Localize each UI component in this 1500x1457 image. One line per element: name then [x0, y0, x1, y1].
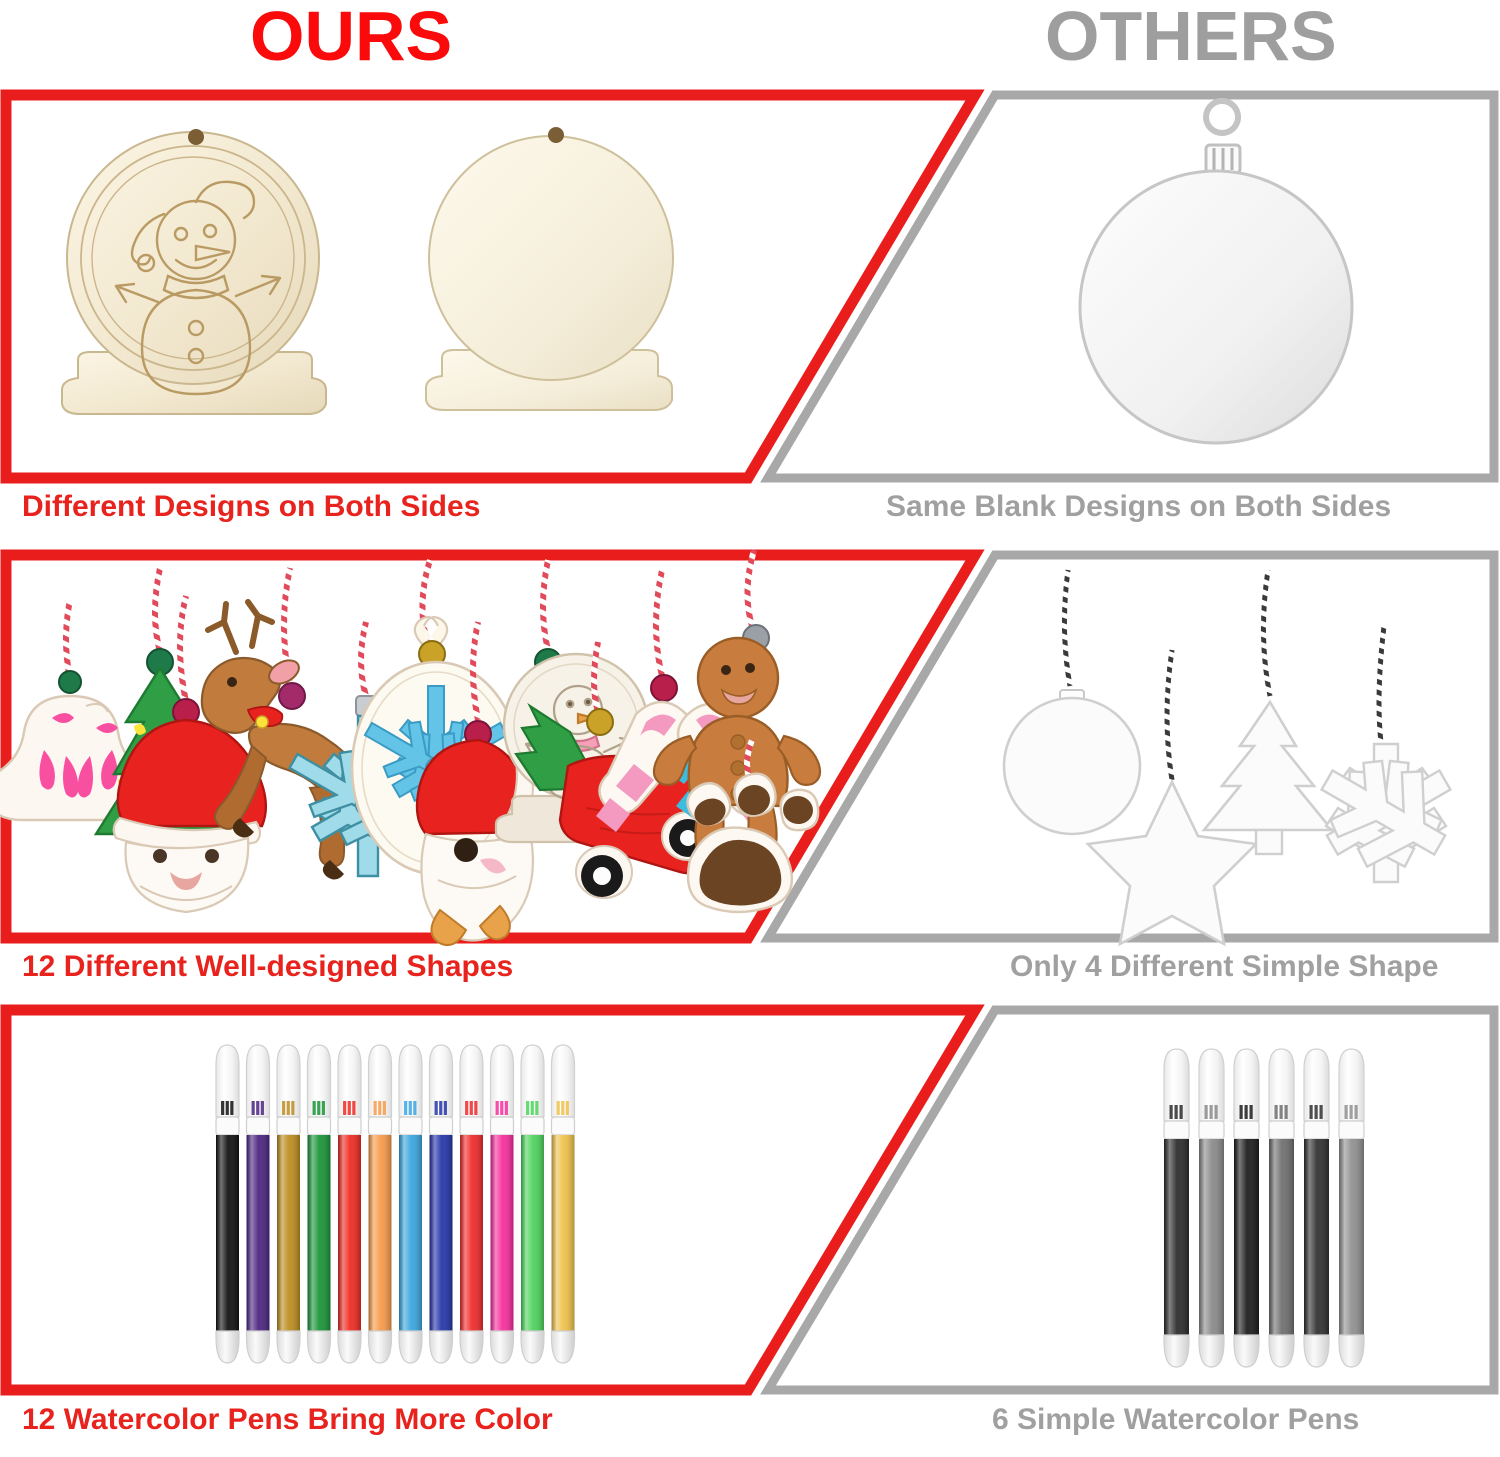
row-pens: 12 Watercolor Pens Bring More Color 6 Si… — [0, 1005, 1500, 1457]
row-shapes: 12 Different Well-designed Shapes Only 4… — [0, 550, 1500, 1005]
caption-ours-pens: 12 Watercolor Pens Bring More Color — [22, 1403, 553, 1437]
wood-snowglobe-engraved-snowman — [62, 129, 326, 414]
pen-gray-5 — [1304, 1049, 1329, 1367]
row-designs-art — [0, 90, 1500, 482]
pen-purple — [247, 1045, 270, 1363]
caption-others-designs: Same Blank Designs on Both Sides — [886, 490, 1391, 524]
others-pen-set — [1164, 1049, 1364, 1367]
blank-tree-shape — [1204, 570, 1332, 854]
caption-ours-designs: Different Designs on Both Sides — [22, 490, 480, 524]
pen-yellow — [552, 1045, 575, 1363]
pen-gray-4 — [1269, 1049, 1294, 1367]
row-designs: Different Designs on Both Sides Same Bla… — [0, 90, 1500, 545]
pen-magenta — [491, 1045, 514, 1363]
pen-light-blue — [399, 1045, 422, 1363]
caption-ours-shapes: 12 Different Well-designed Shapes — [22, 950, 513, 984]
pen-dark-blue — [430, 1045, 453, 1363]
row-pens-art — [0, 1005, 1500, 1397]
header: OURS OTHERS — [0, 0, 1500, 86]
pen-crimson — [460, 1045, 483, 1363]
header-ours-title: OURS — [250, 0, 452, 76]
wood-snowglobe-blank-back — [426, 127, 673, 410]
blank-snowflake-shape — [1300, 626, 1473, 893]
pen-green — [308, 1045, 331, 1363]
comparison-infographic: OURS OTHERS — [0, 0, 1500, 1457]
caption-others-shapes: Only 4 Different Simple Shape — [1010, 950, 1438, 984]
pen-gray-1 — [1164, 1049, 1189, 1367]
pen-gray-2 — [1199, 1049, 1224, 1367]
pen-gray-3 — [1234, 1049, 1259, 1367]
pen-orange — [369, 1045, 392, 1363]
pen-dark-gold — [277, 1045, 300, 1363]
pen-red — [338, 1045, 361, 1363]
pen-gray-6 — [1339, 1049, 1364, 1367]
ours-pen-set — [216, 1045, 575, 1363]
pen-black — [216, 1045, 239, 1363]
row-shapes-art — [0, 550, 1500, 942]
header-others-title: OTHERS — [1045, 0, 1337, 76]
blank-white-bauble — [1080, 101, 1352, 443]
caption-others-pens: 6 Simple Watercolor Pens — [992, 1403, 1359, 1437]
santa-face-ornament — [114, 596, 266, 912]
pen-light-green — [521, 1045, 544, 1363]
blank-ball-shape — [1004, 570, 1140, 834]
